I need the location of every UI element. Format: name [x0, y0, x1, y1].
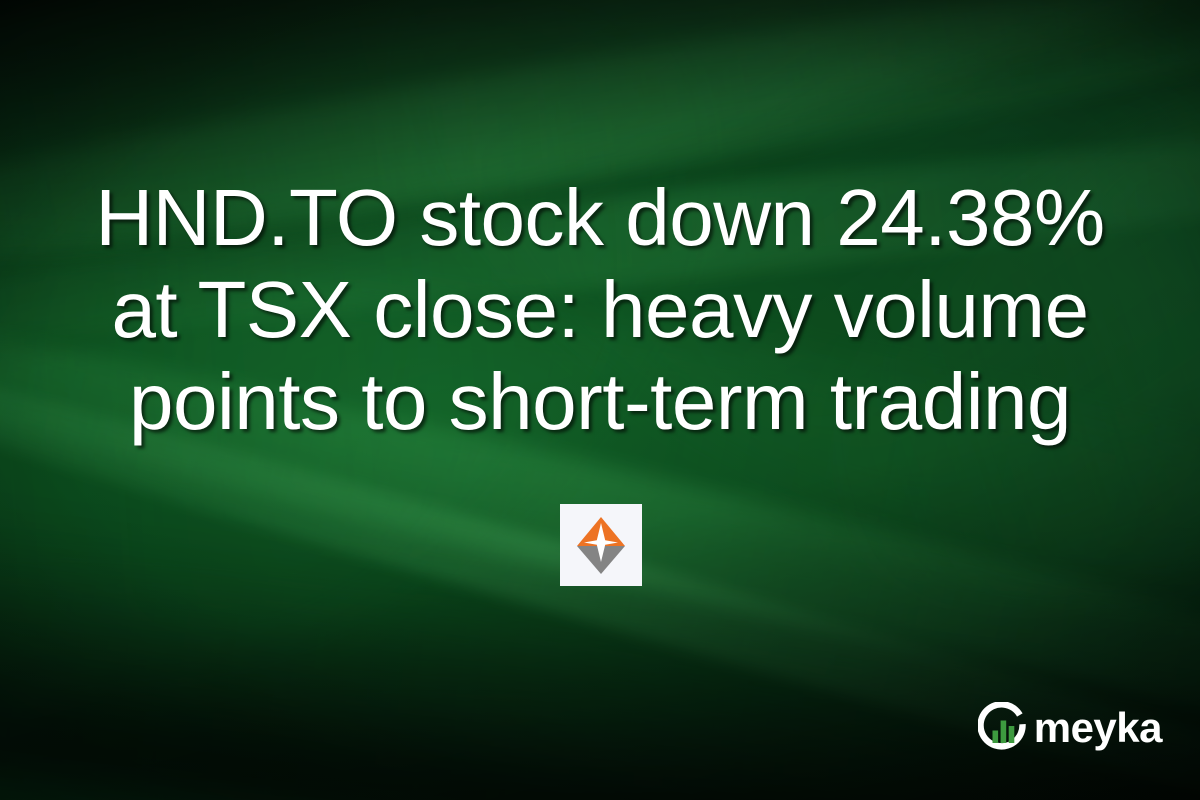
- social-share-card: HND.TO stock down 24.38% at TSX close: h…: [0, 0, 1200, 800]
- meyka-ring-barchart-icon: [978, 702, 1030, 754]
- headline: HND.TO stock down 24.38% at TSX close: h…: [60, 172, 1140, 448]
- headline-line-1: HND.TO stock down 24.38%: [60, 172, 1140, 264]
- brand-logo: meyka: [978, 702, 1162, 754]
- company-logo-badge: [560, 504, 642, 586]
- headline-line-2: at TSX close: heavy volume: [60, 264, 1140, 356]
- diamond-compass-logo-icon: [573, 513, 629, 577]
- headline-line-3: points to short-term trading: [60, 356, 1140, 448]
- brand-wordmark: meyka: [1034, 707, 1162, 749]
